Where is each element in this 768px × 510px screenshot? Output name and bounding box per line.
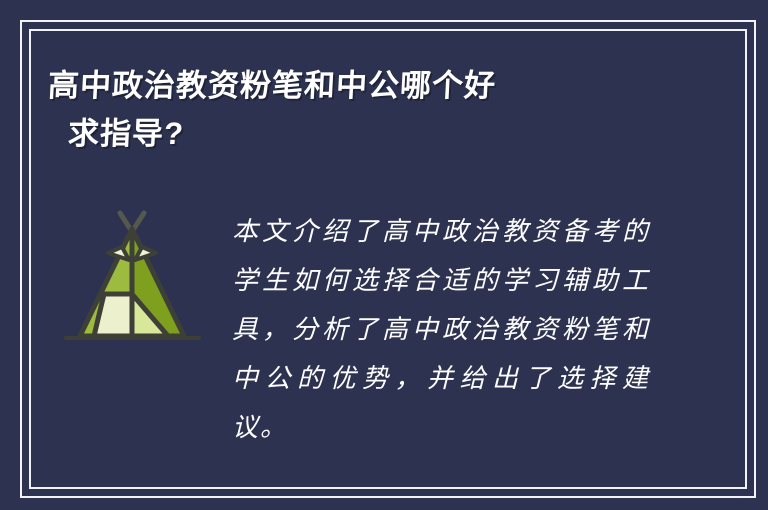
teepee-tent-icon — [60, 205, 205, 350]
teepee-tent-graphic — [60, 205, 205, 350]
page-title: 高中政治教资粉笔和中公哪个好 求指导? — [48, 62, 648, 158]
title-line-2: 求指导? — [67, 110, 650, 158]
title-line-1: 高中政治教资粉笔和中公哪个好 — [47, 62, 650, 110]
summary-paragraph: 本文介绍了高中政治教资备考的学生如何选择合适的学习辅助工具，分析了高中政治教资粉… — [232, 208, 650, 453]
summary-text: 本文介绍了高中政治教资备考的学生如何选择合适的学习辅助工具，分析了高中政治教资粉… — [232, 208, 650, 453]
poster-canvas: 高中政治教资粉笔和中公哪个好 求指导? 本文介绍了高中政治教资备考的学生如何选择… — [0, 0, 768, 510]
